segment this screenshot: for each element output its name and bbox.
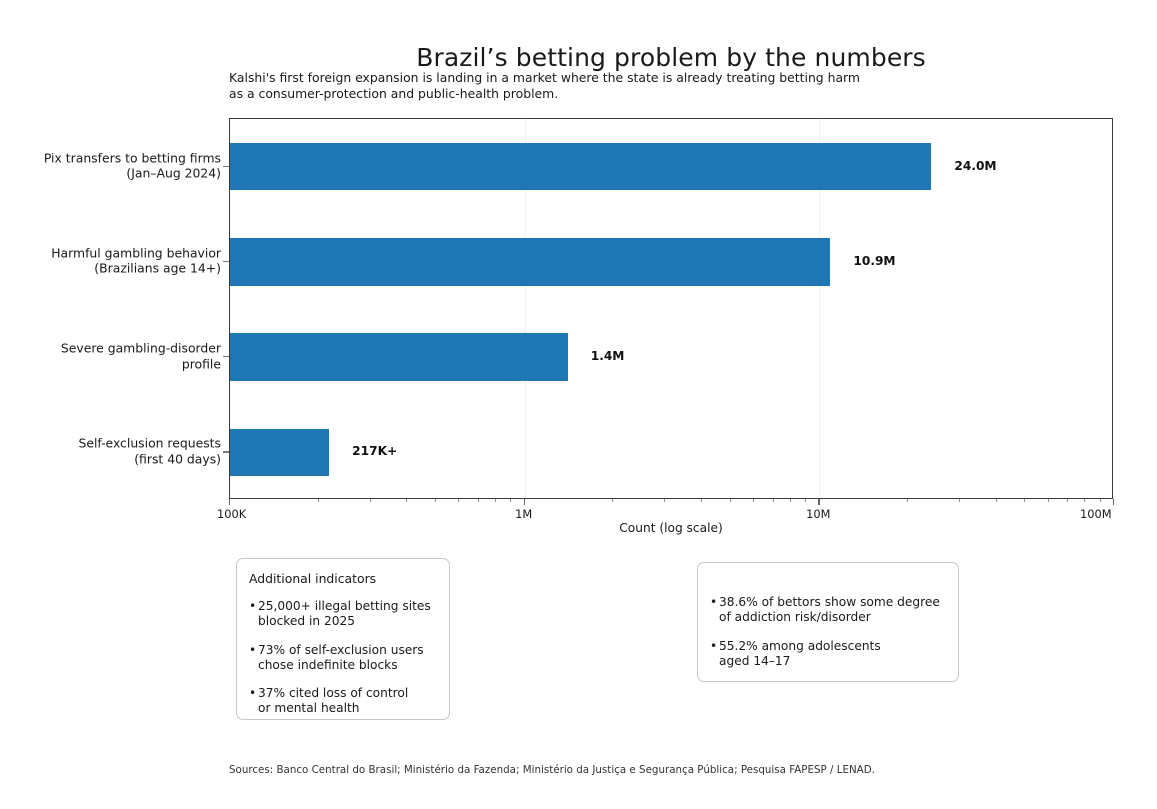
x-axis-tick-mark (229, 499, 230, 505)
x-axis-minor-tick (1024, 499, 1025, 502)
x-axis-minor-tick (730, 499, 731, 502)
page-title: Brazil’s betting problem by the numbers (229, 44, 1113, 72)
list-item: •73% of self-exclusion users chose indef… (249, 643, 439, 674)
x-axis-minor-tick (495, 499, 496, 502)
page-subtitle: Kalshi's first foreign expansion is land… (229, 70, 949, 102)
y-axis-tick-mark (223, 356, 229, 357)
additional-indicators-list: •25,000+ illegal betting sites blocked i… (249, 599, 439, 717)
x-axis-tick-label: 100M (1080, 507, 1112, 521)
y-axis-tick-label: Severe gambling-disorder profile (21, 341, 221, 372)
list-item: •38.6% of bettors show some degree of ad… (710, 595, 948, 626)
x-axis-minor-tick (1100, 499, 1101, 502)
y-axis-tick-mark (223, 451, 229, 452)
x-axis-minor-tick (318, 499, 319, 502)
x-axis-minor-tick (1067, 499, 1068, 502)
sources-note: Sources: Banco Central do Brasil; Minist… (229, 764, 875, 776)
bar (230, 238, 830, 286)
bar (230, 429, 329, 477)
x-axis-minor-tick (478, 499, 479, 502)
bullet-icon: • (710, 595, 717, 610)
x-axis-tick-label: 10M (806, 507, 830, 521)
bullet-icon: • (249, 686, 256, 701)
chart-plot-area (229, 118, 1113, 499)
x-axis-minor-tick (805, 499, 806, 502)
bar-value-label: 217K+ (352, 444, 397, 458)
bar (230, 333, 568, 381)
y-axis-tick-label: Harmful gambling behavior (Brazilians ag… (21, 245, 221, 276)
list-item: •55.2% among adolescents aged 14–17 (710, 639, 948, 670)
x-axis-minor-tick (701, 499, 702, 502)
additional-indicators-box: Additional indicators •25,000+ illegal b… (236, 558, 450, 720)
x-axis-minor-tick (406, 499, 407, 502)
x-axis-minor-tick (753, 499, 754, 502)
x-axis-minor-tick (1048, 499, 1049, 502)
bar (230, 143, 931, 191)
bar-value-label: 24.0M (954, 159, 996, 173)
x-axis-tick-mark (524, 499, 525, 505)
x-axis-minor-tick (790, 499, 791, 502)
addiction-stats-box: •38.6% of bettors show some degree of ad… (697, 562, 959, 682)
additional-indicators-heading: Additional indicators (249, 571, 439, 586)
bullet-icon: • (710, 639, 717, 654)
x-axis-tick-label: 100K (217, 507, 246, 521)
x-axis-minor-tick (907, 499, 908, 502)
x-axis-minor-tick (959, 499, 960, 502)
bar-value-label: 10.9M (853, 254, 895, 268)
x-axis-minor-tick (510, 499, 511, 502)
bullet-icon: • (249, 643, 256, 658)
x-axis-minor-tick (435, 499, 436, 502)
y-axis-tick-label: Self-exclusion requests (first 40 days) (21, 436, 221, 467)
x-axis-minor-tick (370, 499, 371, 502)
y-axis-tick-mark (223, 166, 229, 167)
list-item: •37% cited loss of control or mental hea… (249, 686, 439, 717)
addiction-stats-list: •38.6% of bettors show some degree of ad… (710, 595, 948, 669)
x-axis-minor-tick (458, 499, 459, 502)
x-axis-title: Count (log scale) (229, 521, 1113, 535)
x-axis-minor-tick (664, 499, 665, 502)
x-axis-minor-tick (612, 499, 613, 502)
x-axis-minor-tick (996, 499, 997, 502)
x-axis-tick-label: 1M (515, 507, 532, 521)
list-item: •25,000+ illegal betting sites blocked i… (249, 599, 439, 630)
x-axis-tick-mark (818, 499, 819, 505)
x-axis-minor-tick (1084, 499, 1085, 502)
y-axis-tick-mark (223, 261, 229, 262)
x-axis-minor-tick (773, 499, 774, 502)
bullet-icon: • (249, 599, 256, 614)
y-axis-tick-label: Pix transfers to betting firms (Jan–Aug … (21, 150, 221, 181)
bar-value-label: 1.4M (591, 349, 625, 363)
x-axis-tick-mark (1113, 499, 1114, 505)
